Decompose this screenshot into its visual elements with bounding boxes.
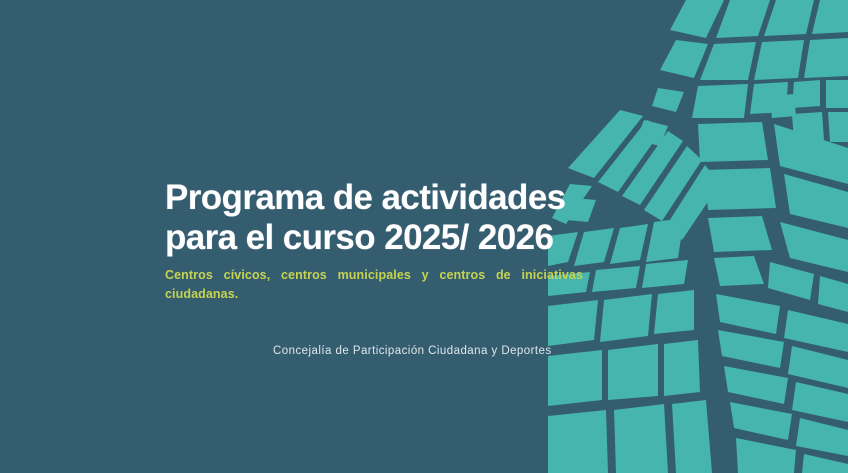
- page-title: Programa de actividades para el curso 20…: [165, 178, 585, 258]
- city-map-illustration: [548, 0, 848, 473]
- cover-slide: Programa de actividades para el curso 20…: [0, 0, 848, 473]
- department-attribution: Concejalía de Participación Ciudadana y …: [273, 345, 552, 357]
- page-subtitle: Centros cívicos, centros municipales y c…: [165, 266, 583, 322]
- cover-text-block: Programa de actividades para el curso 20…: [165, 178, 585, 322]
